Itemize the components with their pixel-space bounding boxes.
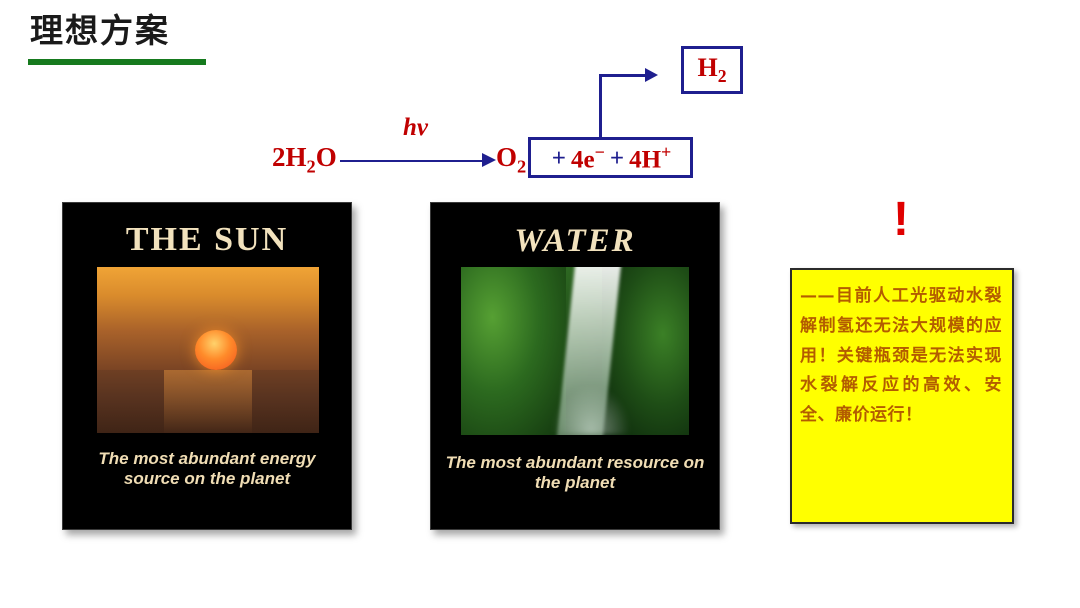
equation-reactant: 2H2O [272,142,337,177]
proton-term: 4H+ [629,142,671,174]
hydrogen-label: H2 [697,53,726,87]
plus-sign-1: + [552,145,566,173]
equation-light-label: hv [403,114,428,142]
foliage-left [461,267,566,435]
hydrogen-subscript: 2 [718,66,727,86]
reaction-arrow-shaft [340,160,486,162]
waterfall-mist [552,385,630,435]
sun-disc-icon [195,330,237,370]
electron-charge: − [595,142,605,162]
note-text: ——目前人工光驱动水裂解制氢还无法大规模的应用！关键瓶颈是无法实现水裂解反应的高… [800,282,1002,431]
reaction-arrow-head-icon [482,153,496,167]
connector-horizontal-line [599,74,647,77]
hydrogen-symbol: H [697,53,717,82]
waterfall-photo [461,267,689,435]
equation-product-oxygen: O2 [496,142,526,177]
reactant-suffix: O [316,142,337,172]
sunset-photo [97,267,319,433]
oxygen-subscript: 2 [517,156,526,176]
exclamation-icon: ! [893,196,909,244]
reactant-prefix: 2H [272,142,307,172]
poster-caption-water: The most abundant resource on the planet [443,453,707,492]
connector-vertical-line [599,74,602,138]
oxygen-symbol: O [496,142,517,172]
title-underline-rule [28,59,206,65]
connector-arrow-head-icon [645,68,658,82]
poster-title-sun: THE SUN [63,221,351,259]
proton-charge: + [661,142,671,162]
yellow-note-box: ——目前人工光驱动水裂解制氢还无法大规模的应用！关键瓶颈是无法实现水裂解反应的高… [790,268,1014,524]
electron-count: 4e [571,147,595,174]
poster-caption-sun: The most abundant energy source on the p… [75,449,339,488]
plus-sign-2: + [610,145,624,173]
page-title: 理想方案 [30,14,170,47]
sunset-water-reflection [164,370,253,433]
proton-count: 4H [629,147,661,174]
hydrogen-product-box: H2 [681,46,743,94]
poster-card-water: WATER The most abundant resource on the … [430,202,720,530]
poster-title-water: WATER [431,223,719,260]
reactant-subscript: 2 [307,156,316,176]
electron-term: 4e− [571,142,605,174]
equation-boxed-terms: + 4e− + 4H+ [534,141,689,176]
poster-card-sun: THE SUN The most abundant energy source … [62,202,352,530]
